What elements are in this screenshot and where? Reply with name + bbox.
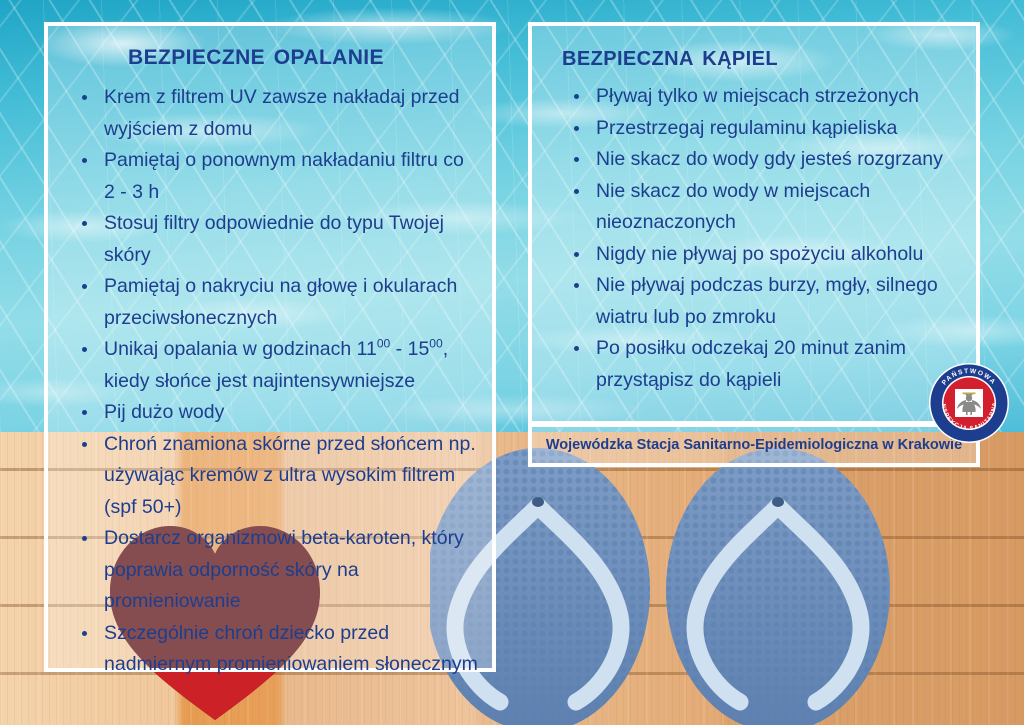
footer-panel: Wojewódzka Stacja Sanitarno-Epidemiologi… — [528, 423, 980, 467]
flip-flops-graphic — [430, 440, 1024, 725]
tip-item: Pływaj tylko w miejscach strzeżonych — [566, 81, 962, 113]
tip-item: Pamiętaj o ponownym nakładaniu filtru co… — [74, 145, 478, 208]
sanitary-inspection-logo: PAŃSTWOWA INSPEKCJA SANITARNA — [928, 362, 1010, 444]
tip-item: Nigdy nie pływaj po spożyciu alkoholu — [566, 239, 962, 271]
time-superscript: 00 — [429, 337, 442, 351]
tip-item: Pij dużo wody — [74, 397, 478, 429]
left-panel-title: Bezpieczne opalanie — [48, 38, 492, 72]
tip-item: Po posiłku odczekaj 20 minut zanim przys… — [566, 333, 962, 396]
right-panel: Bezpieczna kąpiel Pływaj tylko w miejsca… — [528, 22, 980, 425]
tip-item: Stosuj filtry odpowiednie do typu Twojej… — [74, 208, 478, 271]
tip-item: Szczególnie chroń dziecko przed nadmiern… — [74, 618, 478, 681]
left-panel: Bezpieczne opalanie Krem z filtrem UV za… — [44, 22, 496, 672]
tip-item: Nie skacz do wody w miejscach nieoznaczo… — [566, 176, 962, 239]
tip-item: Krem z filtrem UV zawsze nakładaj przed … — [74, 82, 478, 145]
tip-item: Nie skacz do wody gdy jesteś rozgrzany — [566, 144, 962, 176]
left-panel-tip-list: Krem z filtrem UV zawsze nakładaj przed … — [48, 82, 492, 681]
poster: Bezpieczne opalanie Krem z filtrem UV za… — [0, 0, 1024, 725]
right-panel-tip-list: Pływaj tylko w miejscach strzeżonychPrze… — [532, 81, 976, 396]
tip-item: Unikaj opalania w godzinach 1100 - 1500,… — [74, 334, 478, 397]
tip-item: Dostarcz organizmowi beta-karoten, który… — [74, 523, 478, 618]
time-superscript: 00 — [377, 337, 390, 351]
tip-item: Przestrzegaj regulaminu kąpieliska — [566, 113, 962, 145]
tip-item: Nie pływaj podczas burzy, mgły, silnego … — [566, 270, 962, 333]
tip-item: Chroń znamiona skórne przed słońcem np. … — [74, 429, 478, 524]
tip-item: Pamiętaj o nakryciu na głowę i okularach… — [74, 271, 478, 334]
flip-flop-right — [666, 448, 890, 725]
right-panel-title: Bezpieczna kąpiel — [562, 40, 976, 73]
organization-name: Wojewódzka Stacja Sanitarno-Epidemiologi… — [532, 427, 976, 463]
